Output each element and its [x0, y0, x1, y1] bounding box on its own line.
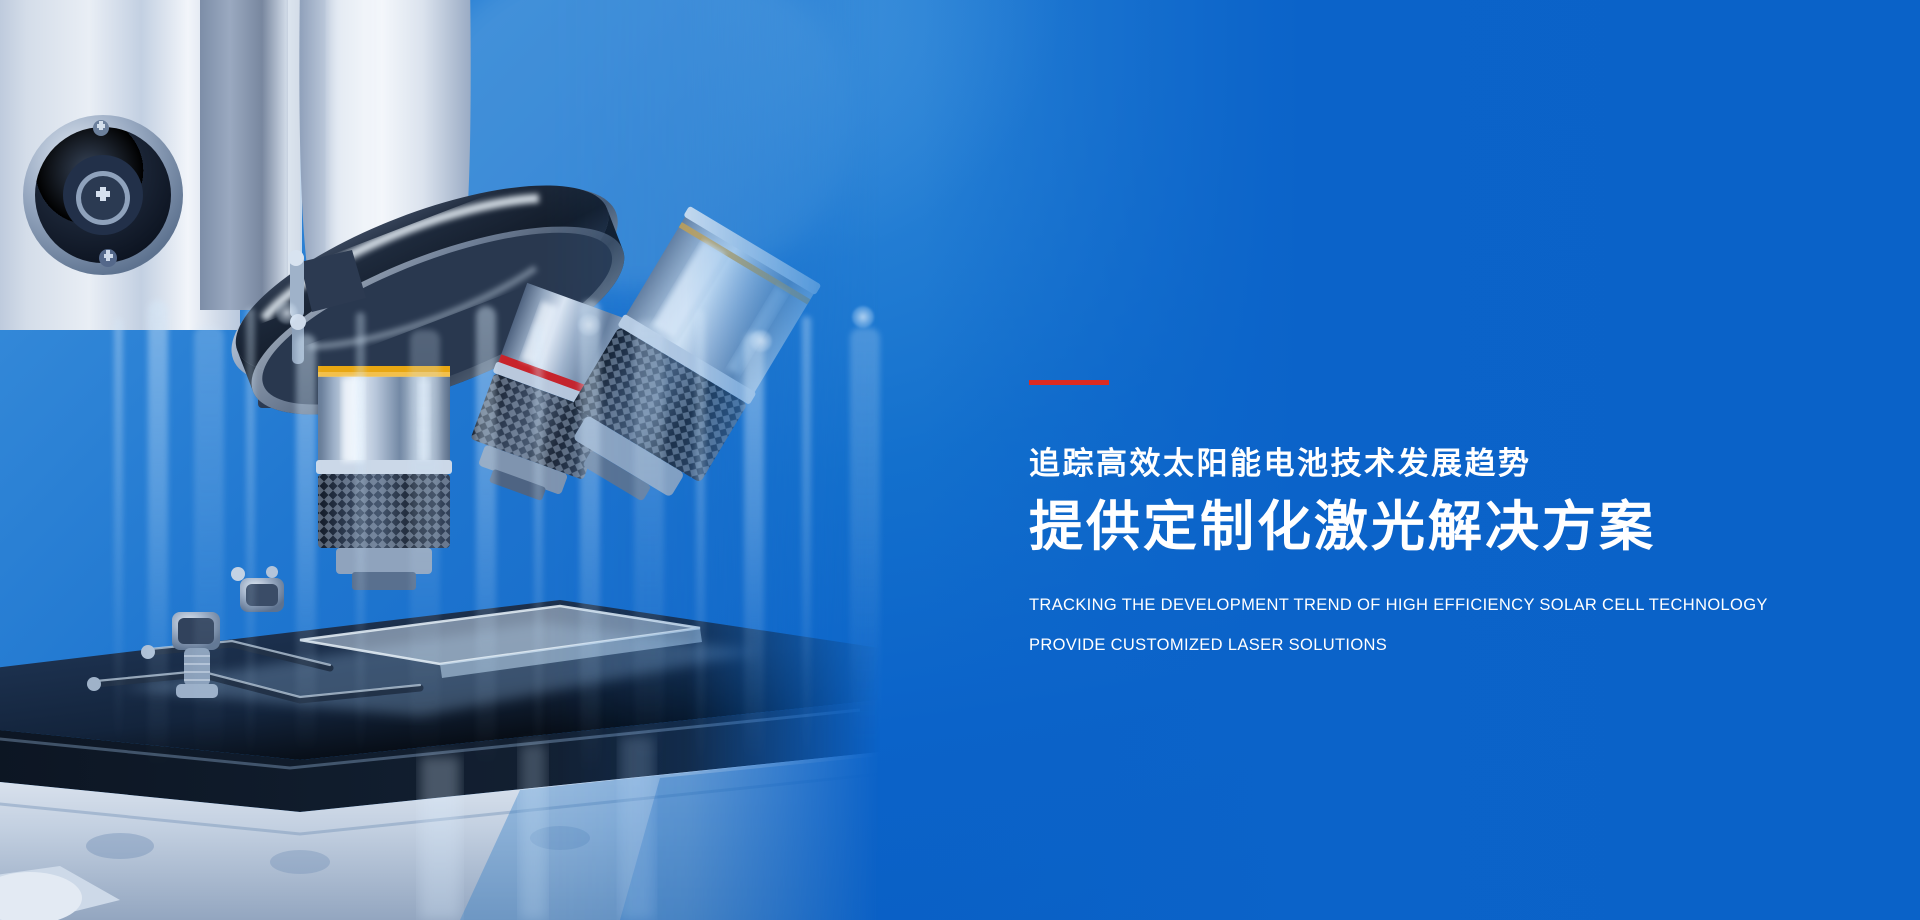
accent-rule-icon	[1029, 380, 1109, 385]
subtitle-en-line-1: TRACKING THE DEVELOPMENT TREND OF HIGH E…	[1029, 596, 1869, 614]
headline-secondary-cn: 追踪高效太阳能电池技术发展趋势	[1029, 445, 1869, 482]
headline-primary-cn: 提供定制化激光解决方案	[1029, 494, 1869, 562]
hero-banner: 追踪高效太阳能电池技术发展趋势 提供定制化激光解决方案 TRACKING THE…	[0, 0, 1920, 920]
hero-text-block: 追踪高效太阳能电池技术发展趋势 提供定制化激光解决方案 TRACKING THE…	[1029, 380, 1869, 654]
subtitle-en-line-2: PROVIDE CUSTOMIZED LASER SOLUTIONS	[1029, 636, 1869, 654]
microscope-photo	[0, 0, 880, 920]
